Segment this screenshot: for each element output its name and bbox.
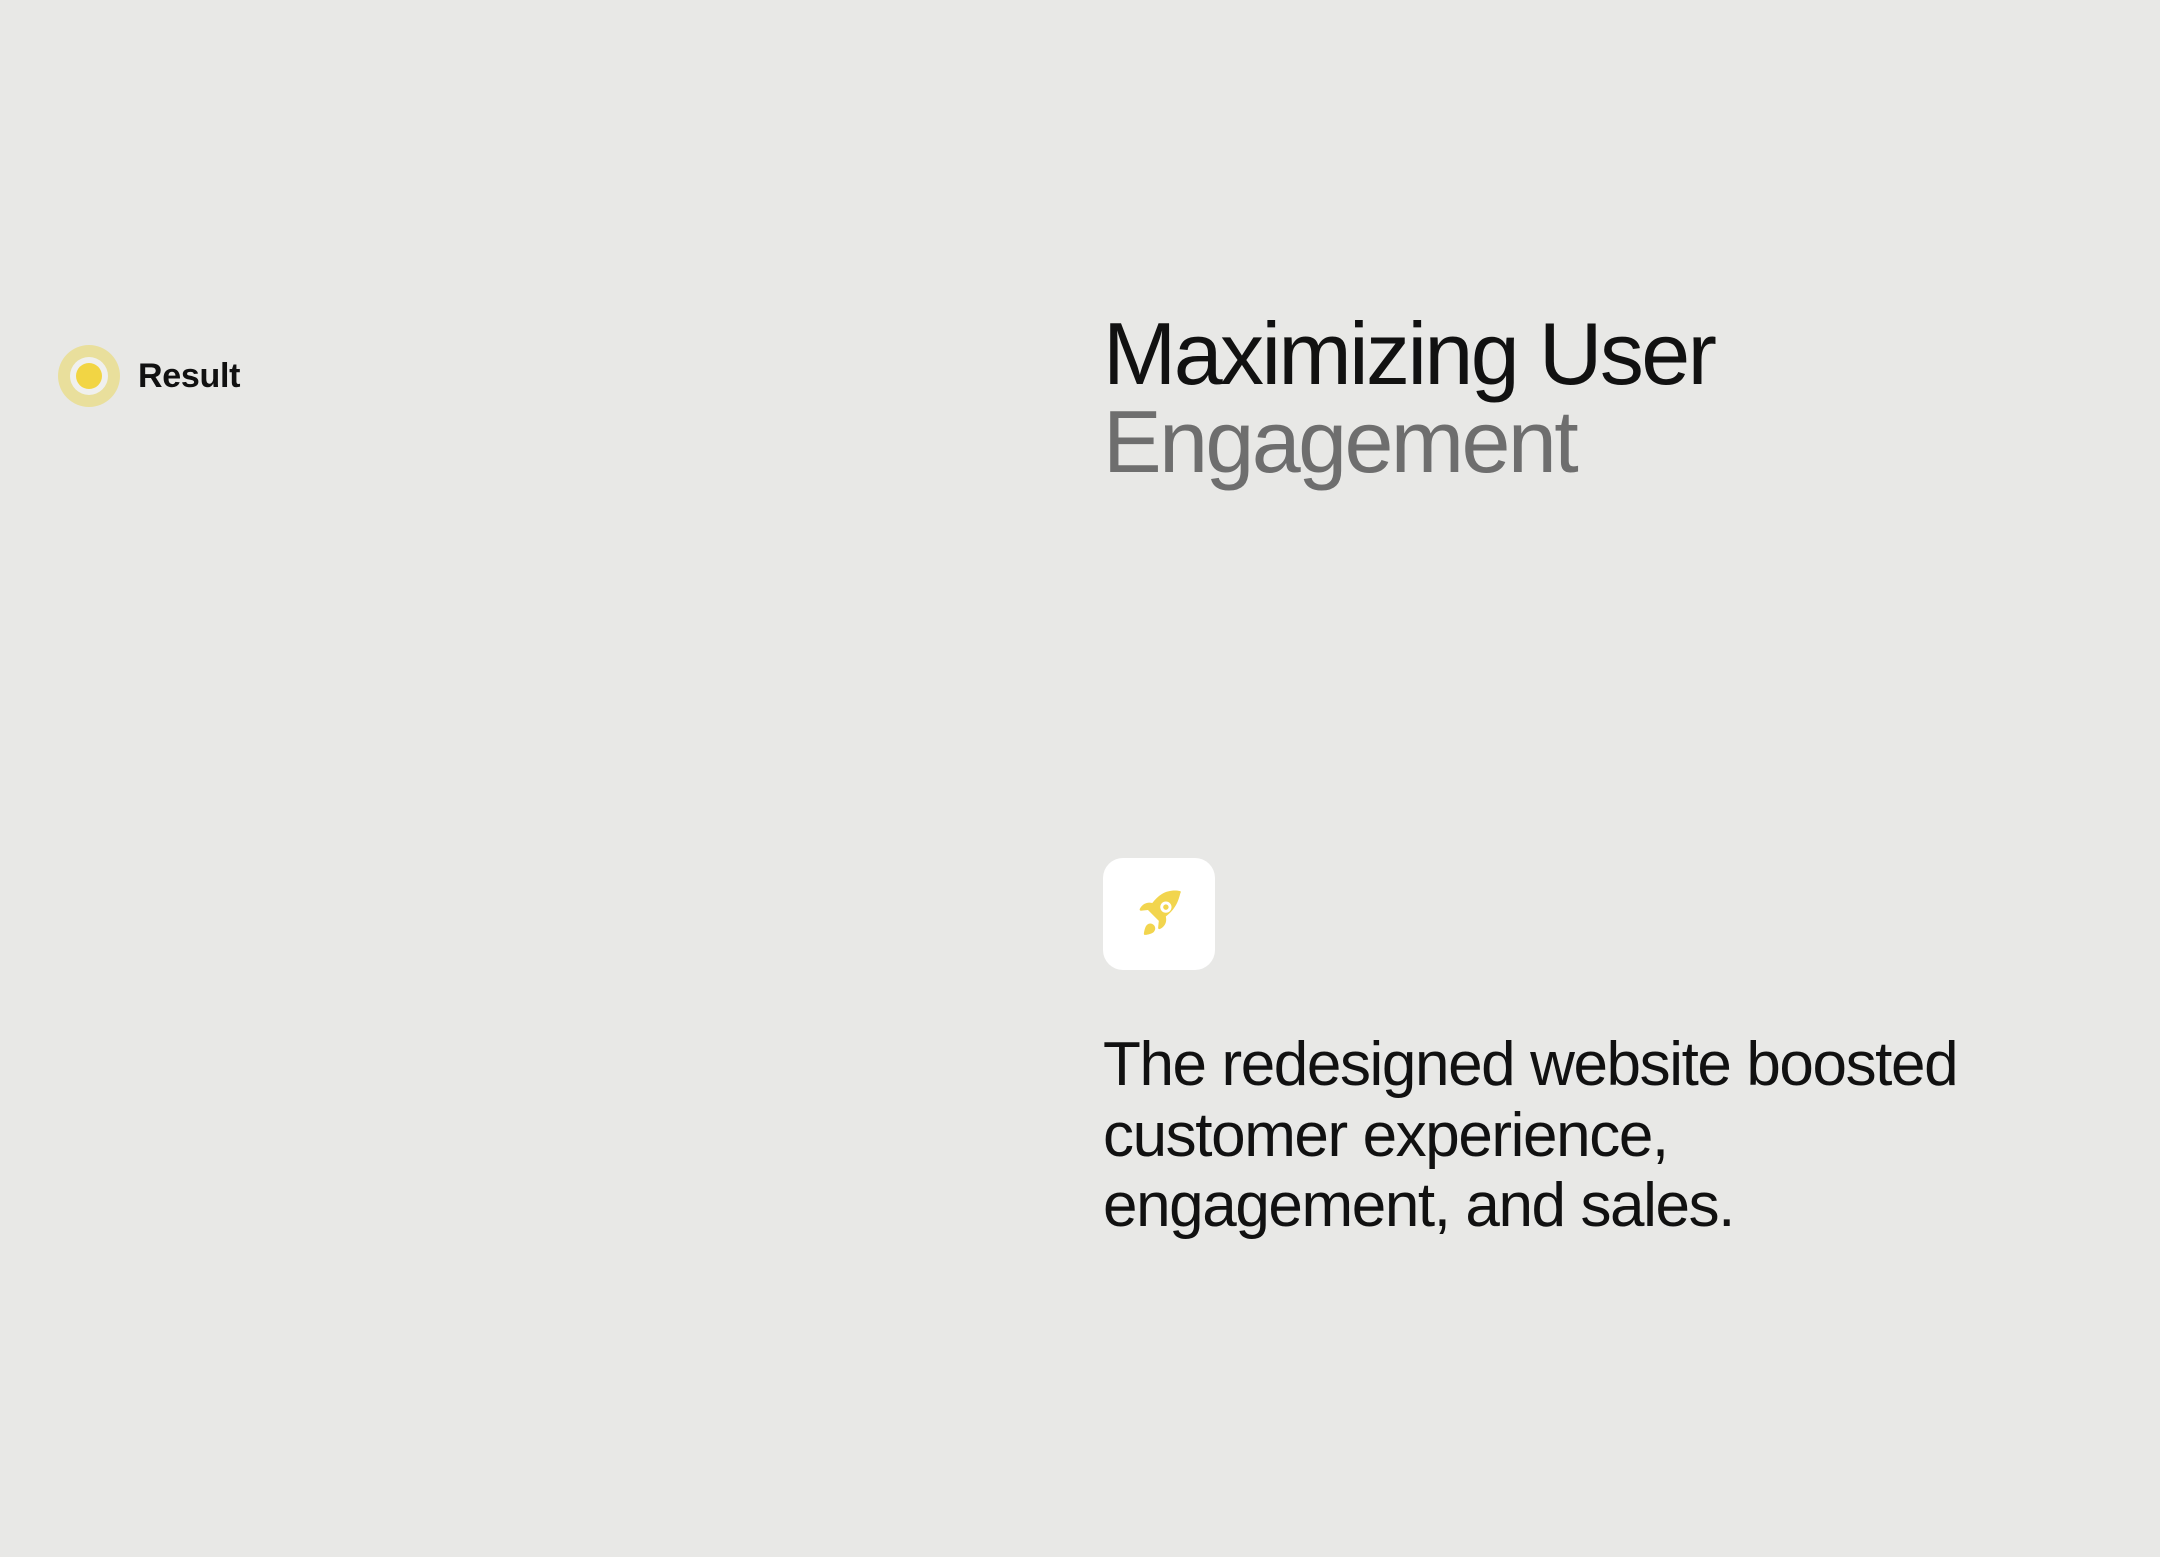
content-column: Maximizing User Engagement The red [1103, 0, 1983, 1557]
headline-line-secondary: Engagement [1103, 398, 1983, 486]
headline-line-primary: Maximizing User [1103, 310, 1983, 398]
target-dot-icon [58, 345, 120, 407]
feature-body-text: The redesigned website boosted customer … [1103, 1030, 1983, 1242]
result-eyebrow-label: Result [138, 357, 240, 396]
feature-icon-card [1103, 858, 1215, 970]
page-title: Maximizing User Engagement [1103, 310, 1983, 486]
slide-canvas: Result Maximizing User Engagement [0, 0, 2160, 1557]
rocket-icon [1130, 885, 1188, 943]
result-eyebrow: Result [58, 345, 240, 407]
